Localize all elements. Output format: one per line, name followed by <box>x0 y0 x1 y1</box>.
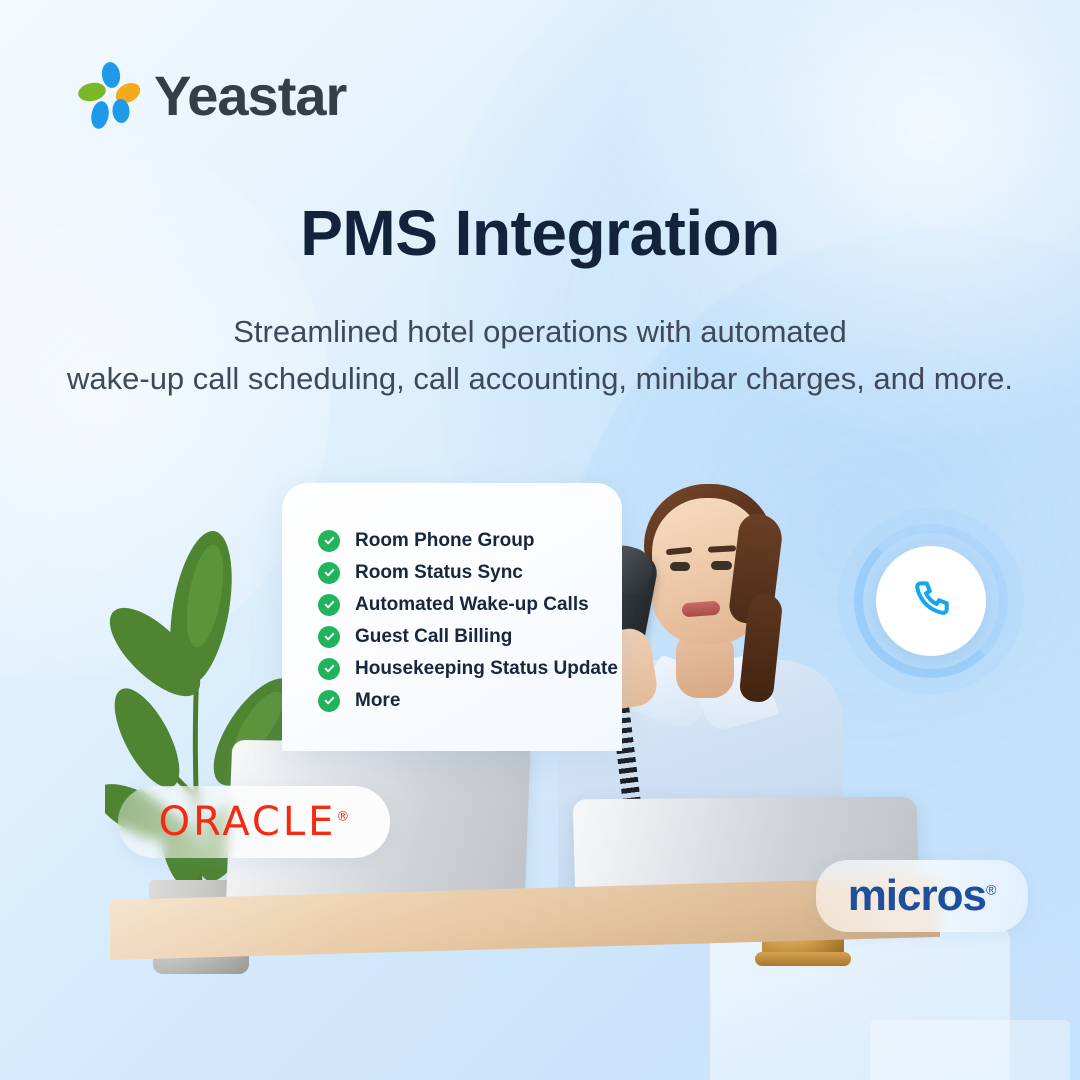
check-circle-icon <box>318 658 340 680</box>
feature-card: Room Phone Group Room Status Sync Automa… <box>282 483 622 751</box>
oracle-logo-pill: ORACLE® <box>118 786 390 858</box>
check-circle-icon <box>318 594 340 616</box>
check-circle-icon <box>318 690 340 712</box>
yeastar-petal-logo-icon <box>78 62 140 130</box>
feature-list-item: Room Phone Group <box>318 525 622 556</box>
check-mark-icon <box>323 694 336 707</box>
check-circle-icon <box>318 530 340 552</box>
eye-right <box>711 561 732 570</box>
feature-label: Automated Wake-up Calls <box>355 594 589 616</box>
oracle-trademark: ® <box>336 810 349 825</box>
feature-label: Room Status Sync <box>355 562 523 584</box>
mouth <box>682 601 721 618</box>
feature-label: Guest Call Billing <box>355 626 512 648</box>
micros-label: micros <box>848 871 986 920</box>
phone-badge-rings <box>838 508 1024 694</box>
oracle-wordmark: ORACLE® <box>159 802 350 842</box>
oracle-label: ORACLE <box>159 799 337 845</box>
check-circle-icon <box>318 626 340 648</box>
feature-list-item: Guest Call Billing <box>318 621 622 652</box>
subtitle-line-1: Streamlined hotel operations with automa… <box>0 308 1080 355</box>
feature-list-item: Housekeeping Status Update <box>318 653 622 684</box>
service-bell-base <box>755 952 851 966</box>
feature-label: More <box>355 690 400 712</box>
brand-logo: Yeastar <box>78 62 346 130</box>
brand-wordmark: Yeastar <box>154 68 346 124</box>
phone-badge[interactable] <box>876 546 986 656</box>
phone-handset-icon <box>908 578 954 624</box>
micros-wordmark: micros® <box>848 874 997 918</box>
subtitle-line-2: wake-up call scheduling, call accounting… <box>0 355 1080 402</box>
check-mark-icon <box>323 662 336 675</box>
decor-panel-back-secondary <box>870 1020 1070 1080</box>
check-mark-icon <box>323 598 336 611</box>
check-circle-icon <box>318 562 340 584</box>
check-mark-icon <box>323 566 336 579</box>
feature-label: Room Phone Group <box>355 530 534 552</box>
micros-trademark: ® <box>986 881 996 897</box>
check-mark-icon <box>323 534 336 547</box>
page-subtitle: Streamlined hotel operations with automa… <box>0 308 1080 402</box>
check-mark-icon <box>323 630 336 643</box>
feature-label: Housekeeping Status Update <box>355 658 618 680</box>
page-title: PMS Integration <box>0 196 1080 270</box>
feature-list: Room Phone Group Room Status Sync Automa… <box>318 525 622 716</box>
feature-list-item: More <box>318 685 622 716</box>
feature-list-item: Automated Wake-up Calls <box>318 589 622 620</box>
micros-logo-pill: micros® <box>816 860 1028 932</box>
poster-canvas: Yeastar PMS Integration Streamlined hote… <box>0 0 1080 1080</box>
eye-left <box>670 562 690 571</box>
feature-list-item: Room Status Sync <box>318 557 622 588</box>
